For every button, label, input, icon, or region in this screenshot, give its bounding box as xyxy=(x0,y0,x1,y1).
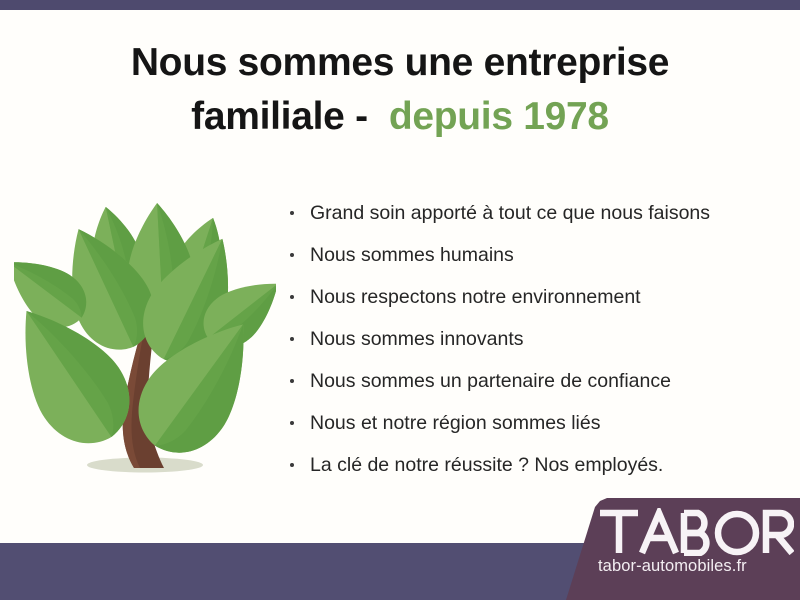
list-item: La clé de notre réussite ? Nos employés. xyxy=(288,444,778,486)
headline-line-1: Nous sommes une entreprise xyxy=(40,36,760,90)
headline-accent: depuis 1978 xyxy=(389,95,609,138)
list-item-label: Nous sommes un partenaire de confiance xyxy=(310,370,671,392)
list-item: Nous sommes humains xyxy=(288,234,778,276)
brand-logo[interactable]: tabor-automobiles.fr xyxy=(598,508,794,576)
bullet-dot-icon xyxy=(290,421,294,425)
list-item: Grand soin apporté à tout ce que nous fa… xyxy=(288,192,778,234)
bullet-dot-icon xyxy=(290,211,294,215)
list-item-label: Nous sommes innovants xyxy=(310,328,524,350)
list-item-label: Grand soin apporté à tout ce que nous fa… xyxy=(310,202,710,224)
top-accent-band xyxy=(0,0,800,10)
headline-line-2-plain: familiale - xyxy=(191,95,368,138)
list-item-label: Nous sommes humains xyxy=(310,244,514,266)
list-item-label: Nous respectons notre environnement xyxy=(310,286,641,308)
list-item-label: Nous et notre région sommes liés xyxy=(310,412,600,434)
bullet-dot-icon xyxy=(290,295,294,299)
value-list: Grand soin apporté à tout ce que nous fa… xyxy=(288,192,778,486)
logo-tagline: tabor-automobiles.fr xyxy=(598,557,794,576)
list-item: Nous sommes un partenaire de confiance xyxy=(288,360,778,402)
bullet-dot-icon xyxy=(290,379,294,383)
list-item-label: La clé de notre réussite ? Nos employés. xyxy=(310,454,663,476)
list-item: Nous respectons notre environnement xyxy=(288,276,778,318)
tree-illustration xyxy=(14,186,276,486)
bullet-dot-icon xyxy=(290,253,294,257)
bullet-dot-icon xyxy=(290,463,294,467)
logo-wordmark xyxy=(598,508,794,556)
headline: Nous sommes une entreprise familiale - d… xyxy=(40,36,760,144)
list-item: Nous sommes innovants xyxy=(288,318,778,360)
headline-line-2: familiale - depuis 1978 xyxy=(40,90,760,144)
list-item: Nous et notre région sommes liés xyxy=(288,402,778,444)
slide-canvas: Nous sommes une entreprise familiale - d… xyxy=(0,0,800,600)
bullet-dot-icon xyxy=(290,337,294,341)
